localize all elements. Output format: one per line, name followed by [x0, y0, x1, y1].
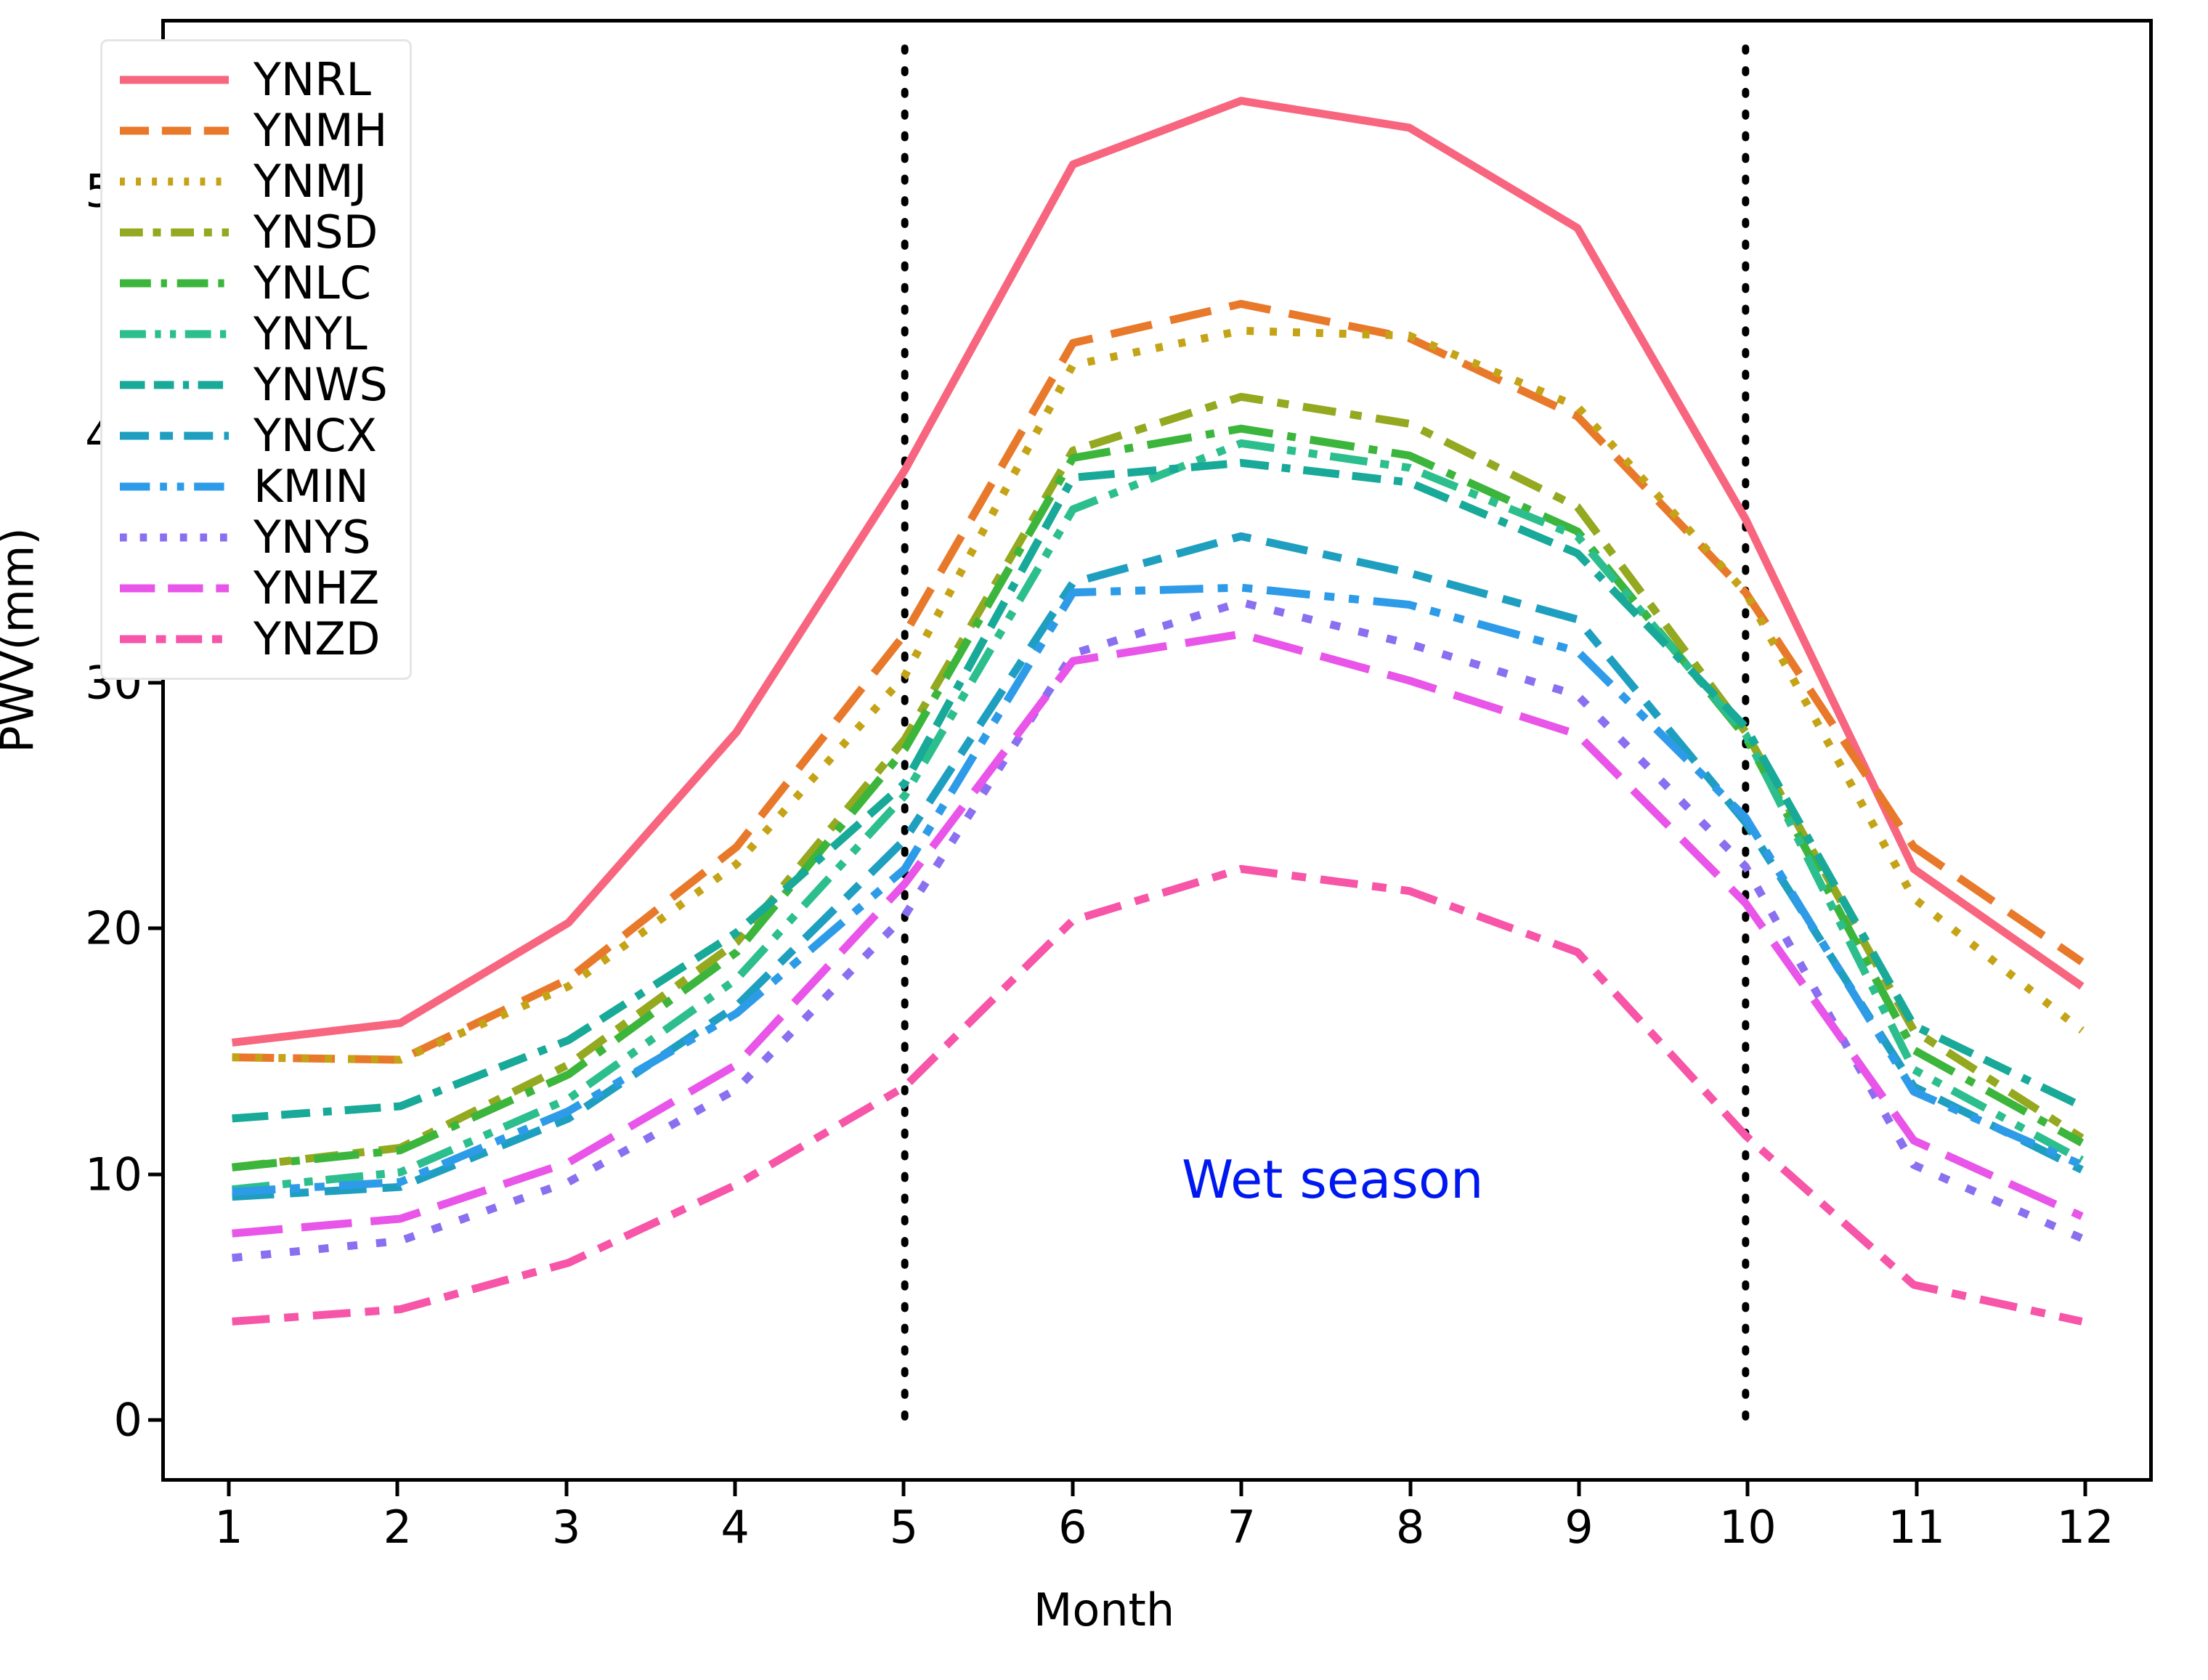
legend-item-ynmj[interactable]: YNMJ [118, 156, 388, 207]
figure-root: 01020304050 123456789101112 PWV(mm) Mont… [0, 0, 2208, 1680]
y-tick-label: 10 [4, 1148, 161, 1201]
x-tick-label: 2 [339, 1501, 455, 1554]
x-tick-label: 1 [171, 1501, 287, 1554]
x-tick-mark [1746, 1482, 1750, 1496]
chart-legend: YNRLYNMHYNMJYNSDYNLCYNYLYNWSYNCXKMINYNYS… [100, 39, 412, 680]
legend-item-ynmh[interactable]: YNMH [118, 105, 388, 156]
legend-item-label: YNSD [253, 210, 378, 255]
legend-line-swatch [118, 75, 230, 85]
x-tick-label: 3 [508, 1501, 625, 1554]
series-line-ynlc [232, 429, 2082, 1167]
x-tick-mark [1071, 1482, 1074, 1496]
x-tick-mark [902, 1482, 906, 1496]
legend-item-kmin[interactable]: KMIN [118, 461, 388, 512]
x-tick-mark [1408, 1482, 1412, 1496]
legend-item-ynys[interactable]: YNYS [118, 512, 388, 563]
line-chart-canvas [165, 23, 2149, 1478]
legend-item-label: YNMH [253, 108, 387, 153]
y-tick-mark [148, 1419, 161, 1422]
x-tick-label: 7 [1183, 1501, 1299, 1554]
legend-item-label: YNHZ [253, 566, 379, 611]
legend-line-swatch [118, 634, 230, 644]
legend-item-label: YNLC [253, 261, 371, 306]
series-line-ynyl [232, 443, 2082, 1189]
x-tick-label: 10 [1689, 1501, 1806, 1554]
x-tick-label: 4 [677, 1501, 793, 1554]
legend-item-label: KMIN [253, 464, 369, 509]
legend-item-yncx[interactable]: YNCX [118, 410, 388, 461]
x-tick-label: 5 [845, 1501, 962, 1554]
legend-item-label: YNYL [253, 312, 368, 357]
wet-season-annotation: Wet season [1182, 1149, 1484, 1210]
x-tick-mark [396, 1482, 399, 1496]
plot-axes [161, 19, 2153, 1482]
legend-line-swatch [118, 278, 230, 288]
legend-line-swatch [118, 329, 230, 339]
legend-line-swatch [118, 227, 230, 238]
series-line-ynzd [232, 869, 2082, 1321]
y-tick-mark [148, 681, 161, 684]
x-tick-label: 8 [1352, 1501, 1469, 1554]
series-line-ynsd [232, 397, 2082, 1167]
legend-line-swatch [118, 583, 230, 593]
y-tick-mark [148, 1172, 161, 1176]
y-axis-label: PWV(mm) [0, 495, 44, 786]
y-tick-mark [148, 927, 161, 930]
series-line-ynmh [232, 304, 2082, 1060]
y-tick-label: 0 [4, 1394, 161, 1447]
legend-line-swatch [118, 380, 230, 390]
legend-item-ynrl[interactable]: YNRL [118, 54, 388, 105]
legend-item-label: YNWS [253, 362, 388, 407]
series-line-ynrl [232, 101, 2082, 1043]
legend-item-label: YNMJ [253, 159, 367, 204]
x-tick-label: 9 [1521, 1501, 1637, 1554]
legend-item-ynlc[interactable]: YNLC [118, 258, 388, 309]
legend-item-label: YNRL [253, 57, 371, 102]
legend-line-swatch [118, 176, 230, 187]
legend-line-swatch [118, 482, 230, 492]
x-tick-label: 12 [2027, 1501, 2143, 1554]
legend-item-ynyl[interactable]: YNYL [118, 309, 388, 360]
x-tick-mark [227, 1482, 230, 1496]
legend-item-ynhz[interactable]: YNHZ [118, 563, 388, 614]
legend-item-label: YNYS [253, 515, 370, 560]
legend-item-ynzd[interactable]: YNZD [118, 614, 388, 665]
x-tick-mark [1915, 1482, 1918, 1496]
legend-line-swatch [118, 532, 230, 543]
legend-item-ynsd[interactable]: YNSD [118, 207, 388, 258]
x-axis-label: Month [0, 1583, 2208, 1636]
x-tick-label: 6 [1015, 1501, 1131, 1554]
legend-item-ynws[interactable]: YNWS [118, 360, 388, 410]
x-tick-mark [1240, 1482, 1243, 1496]
legend-line-swatch [118, 126, 230, 136]
x-tick-mark [2084, 1482, 2087, 1496]
legend-line-swatch [118, 431, 230, 441]
legend-item-label: YNZD [253, 617, 380, 662]
x-tick-mark [734, 1482, 737, 1496]
y-tick-label: 20 [4, 902, 161, 955]
x-tick-mark [564, 1482, 568, 1496]
legend-item-label: YNCX [253, 413, 377, 458]
x-tick-mark [1577, 1482, 1580, 1496]
x-tick-label: 11 [1859, 1501, 1975, 1554]
